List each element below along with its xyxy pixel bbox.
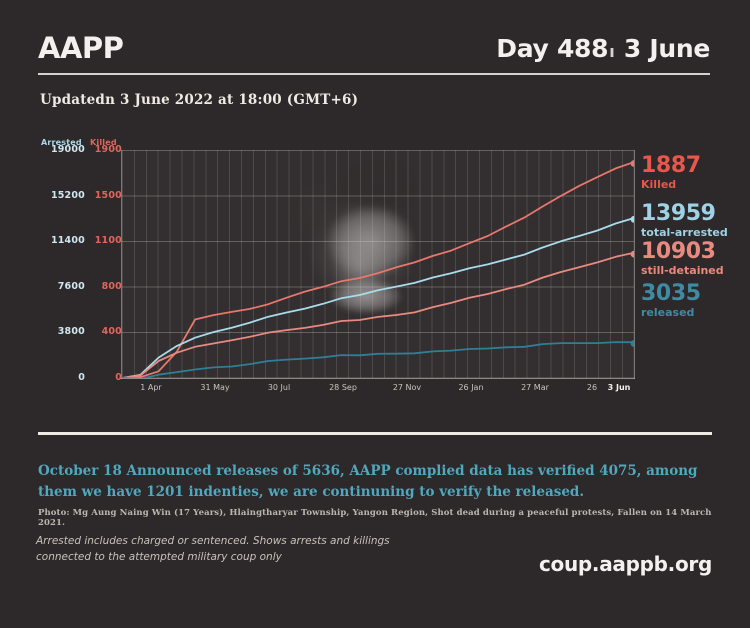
plot-area [122, 150, 634, 378]
series-lines [122, 150, 634, 378]
x-axis-tick: 3 Jun [596, 383, 642, 392]
disclaimer-line2: connected to the attempted military coup… [36, 551, 282, 563]
x-axis-tick: 31 May [192, 383, 238, 392]
y-axis-left-tick: 19000 [33, 144, 85, 155]
callout-total-arrested: 13959 total-arrested [641, 203, 728, 239]
y-axis-right-tick: 0 [88, 372, 122, 383]
header-divider [38, 73, 710, 75]
chart: Arrested Killed 038007600114001520019000… [0, 138, 750, 393]
website-url[interactable]: coup.aappb.org [539, 552, 712, 576]
callout-released-value: 3035 [641, 283, 701, 305]
series-endpoint-total-arrested [631, 216, 634, 223]
y-axis-right-tick: 800 [88, 281, 122, 292]
callout-total-arrested-value: 13959 [641, 203, 728, 225]
y-axis-left-tick: 7600 [33, 281, 85, 292]
y-axis-left-tick: 15200 [33, 190, 85, 201]
x-axis-tick: 30 Jul [256, 383, 302, 392]
x-axis-tick: 26 Jan [448, 383, 494, 392]
page-title: Day 488ı 3 June [496, 34, 710, 63]
series-endpoint-still-detained [631, 251, 634, 258]
y-axis-right-tick: 1100 [88, 235, 122, 246]
date-label: 3 June [624, 34, 710, 63]
release-note: October 18 Announced releases of 5636, A… [38, 461, 716, 503]
footer-divider [38, 432, 712, 435]
callout-total-arrested-caption: total-arrested [641, 226, 728, 239]
day-count-label: Day 488 [496, 34, 608, 63]
y-axis-left-tick: 3800 [33, 326, 85, 337]
disclaimer: Arrested includes charged or sentenced. … [36, 534, 416, 566]
brand-title: AAPP [38, 31, 123, 65]
title-separator: ı [608, 42, 615, 61]
infographic-page: AAPP Day 488ı 3 June Updatedn 3 June 202… [0, 0, 750, 628]
y-axis-right-tick: 1500 [88, 190, 122, 201]
plot-right-border [634, 150, 635, 379]
x-axis-tick: 27 Nov [384, 383, 430, 392]
callout-still-detained-caption: still-detained [641, 264, 724, 277]
y-axis-left-tick: 0 [33, 372, 85, 383]
callout-still-detained-value: 10903 [641, 241, 724, 263]
x-axis-tick: 28 Sep [320, 383, 366, 392]
y-axis-right-tick: 400 [88, 326, 122, 337]
header: AAPP Day 488ı 3 June [38, 28, 710, 68]
callout-released-caption: released [641, 306, 701, 319]
y-axis-left-tick: 11400 [33, 235, 85, 246]
x-axis-tick: 1 Apr [128, 383, 174, 392]
callout-killed-value: 1887 [641, 155, 701, 177]
callout-killed-caption: Killed [641, 178, 701, 191]
series-line-released [122, 342, 634, 378]
photo-credit: Photo: Mg Aung Naing Win (17 Years), Hla… [38, 508, 728, 528]
series-line-still-detained [122, 253, 634, 378]
y-axis-right-tick: 1900 [88, 144, 122, 155]
disclaimer-line1: Arrested includes charged or sentenced. … [36, 535, 390, 547]
callout-released: 3035 released [641, 283, 701, 319]
release-note-line2: we have 1201 indenties, we are continuni… [82, 484, 584, 500]
updated-timestamp: Updatedn 3 June 2022 at 18:00 (GMT+6) [40, 92, 358, 108]
x-axis-tick: 27 Mar [512, 383, 558, 392]
callout-still-detained: 10903 still-detained [641, 241, 724, 277]
callout-killed: 1887 Killed [641, 155, 701, 191]
series-endpoint-Killed [631, 160, 634, 167]
series-endpoint-released [631, 340, 634, 347]
x-axis-line [121, 378, 635, 379]
